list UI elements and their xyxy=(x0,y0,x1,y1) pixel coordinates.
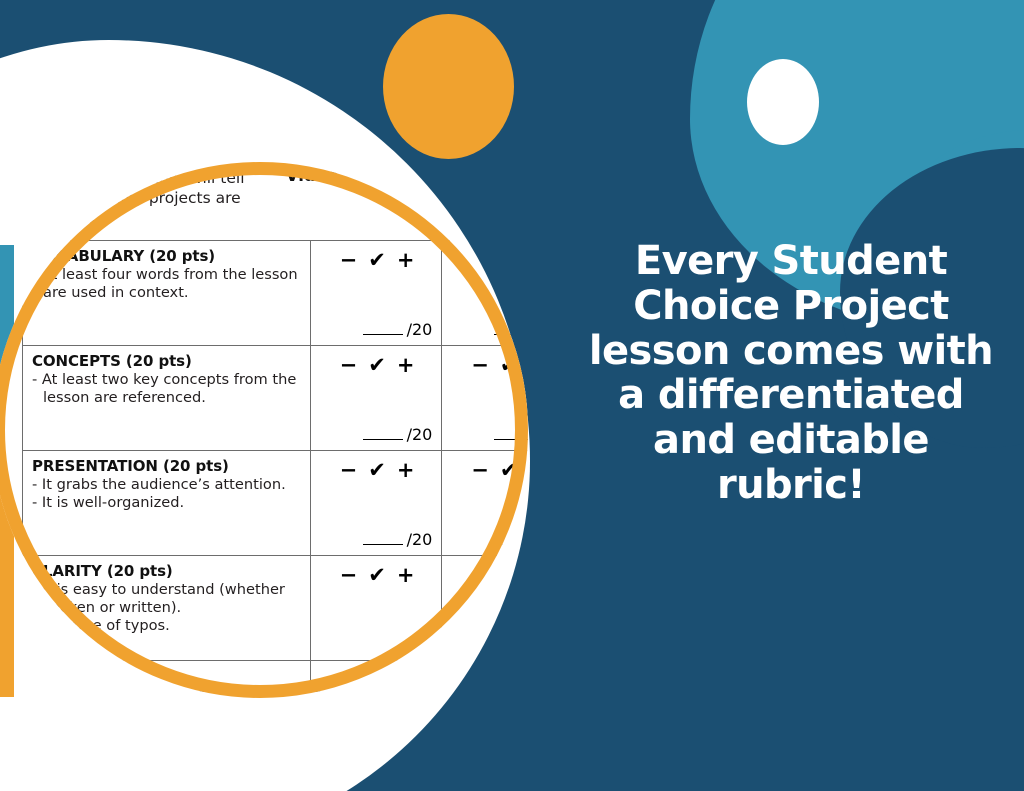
minus-mark[interactable]: − xyxy=(340,565,358,586)
plus-mark[interactable]: + xyxy=(397,565,415,586)
score-cell-video[interactable]: − ✔ + /20 xyxy=(310,346,442,451)
table-row: CLARITY (20 pts) - It is easy to underst… xyxy=(23,556,529,661)
score-entry[interactable]: /20 xyxy=(451,425,528,444)
score-inner: − ✔ + /20 xyxy=(320,352,435,444)
slide-canvas: udent Choice Project Rubric Each project… xyxy=(0,0,1024,791)
score-entry[interactable]: /20 xyxy=(320,320,435,339)
score-cell-second[interactable]: − ✔ + /20 xyxy=(442,451,528,556)
white-circle-shape xyxy=(747,59,819,145)
mark-options[interactable]: − ✔ + xyxy=(451,457,528,481)
score-inner: − ✔ + /20 xyxy=(451,352,528,444)
score-inner: − ✔ + xyxy=(320,562,435,654)
score-entry[interactable]: /20 xyxy=(320,530,435,549)
minus-mark[interactable]: − xyxy=(471,355,489,376)
check-mark[interactable]: ✔ xyxy=(500,460,518,481)
score-inner xyxy=(451,562,528,654)
rubric-table-body: VOCABULARY (20 pts) - At least four word… xyxy=(23,241,529,692)
score-cell-video[interactable]: − ✔ + /20 xyxy=(310,241,442,346)
check-mark[interactable]: ✔ xyxy=(368,565,386,586)
plus-mark[interactable]: + xyxy=(397,460,415,481)
list-item: - At least two key concepts from the les… xyxy=(32,371,303,407)
score-inner: − ✔ + /20 xyxy=(320,247,435,339)
score-cell-second[interactable] xyxy=(442,556,528,661)
score-cell-video[interactable] xyxy=(310,661,442,692)
check-mark[interactable]: ✔ xyxy=(500,250,518,271)
headline-text: Every Student Choice Project lesson come… xyxy=(586,239,996,508)
score-entry[interactable]: /20 xyxy=(451,530,528,549)
mark-options[interactable]: − ✔ + xyxy=(320,352,435,376)
magnifier-lens: udent Choice Project Rubric Each project… xyxy=(0,162,528,698)
table-row: PRESENTATION (20 pts) - It grabs the aud… xyxy=(23,451,529,556)
criterion-cell: VOCABULARY (20 pts) - At least four word… xyxy=(23,241,311,346)
list-item: - It is easy to understand (whether spok… xyxy=(32,581,303,617)
score-blank-line[interactable] xyxy=(494,428,528,440)
mark-options[interactable]: − ✔ + xyxy=(320,247,435,271)
mark-options[interactable] xyxy=(451,562,528,565)
list-item: - It grabs the audience’s attention. xyxy=(32,476,303,494)
intro-text: Each project is worth 100 points. Your t… xyxy=(30,162,258,228)
minus-mark[interactable]: − xyxy=(340,250,358,271)
rubric-document: udent Choice Project Rubric Each project… xyxy=(22,162,528,692)
score-inner: − ✔ + /20 xyxy=(451,247,528,339)
table-row: CY (20 pts) xyxy=(23,661,529,692)
criterion-cell: CY (20 pts) xyxy=(23,661,311,692)
plus-mark[interactable]: + xyxy=(397,250,415,271)
criterion-title: CONCEPTS (20 pts) xyxy=(32,352,303,370)
minus-mark[interactable]: − xyxy=(471,460,489,481)
criterion-cell: PRESENTATION (20 pts) - It grabs the aud… xyxy=(23,451,311,556)
score-blank-line[interactable] xyxy=(494,323,528,335)
list-item: - At least four words from the lesson ar… xyxy=(32,266,303,302)
column-header-video: Video xyxy=(258,162,366,185)
score-entry[interactable]: /20 xyxy=(320,425,435,444)
criterion-cell: CONCEPTS (20 pts) - At least two key con… xyxy=(23,346,311,451)
score-blank-line[interactable] xyxy=(363,428,403,440)
criterion-title: CY (20 pts) xyxy=(32,667,303,685)
plus-mark[interactable]: + xyxy=(397,355,415,376)
score-cell-second[interactable]: − ✔ + /20 xyxy=(442,346,528,451)
score-cell-video[interactable]: − ✔ + /20 xyxy=(310,451,442,556)
score-cell-second[interactable] xyxy=(442,661,528,692)
minus-mark[interactable]: − xyxy=(340,460,358,481)
score-blank-line[interactable] xyxy=(363,323,403,335)
score-suffix: /20 xyxy=(407,320,433,339)
mark-options[interactable]: − ✔ + xyxy=(451,247,528,271)
check-mark[interactable]: ✔ xyxy=(368,460,386,481)
criterion-bullets: - At least four words from the lesson ar… xyxy=(32,266,303,302)
list-item: - It is well-organized. xyxy=(32,494,303,512)
criterion-bullets: - It grabs the audience’s attention. - I… xyxy=(32,476,303,512)
check-mark[interactable]: ✔ xyxy=(368,250,386,271)
score-entry[interactable]: /20 xyxy=(451,320,528,339)
mark-options[interactable]: − ✔ + xyxy=(451,352,528,376)
table-row: VOCABULARY (20 pts) - At least four word… xyxy=(23,241,529,346)
score-cell-second[interactable]: − ✔ + /20 xyxy=(442,241,528,346)
score-suffix: /20 xyxy=(407,425,433,444)
minus-mark[interactable]: − xyxy=(340,355,358,376)
check-mark[interactable]: ✔ xyxy=(368,355,386,376)
score-inner: − ✔ + /20 xyxy=(320,457,435,549)
score-inner: − ✔ + /20 xyxy=(451,457,528,549)
check-mark[interactable]: ✔ xyxy=(500,355,518,376)
rubric-table: VOCABULARY (20 pts) - At least four word… xyxy=(22,240,528,692)
score-suffix: /20 xyxy=(407,530,433,549)
mark-options[interactable]: − ✔ + xyxy=(320,457,435,481)
column-header-second: R xyxy=(366,162,474,185)
criterion-title: CLARITY (20 pts) xyxy=(32,562,303,580)
criterion-title: VOCABULARY (20 pts) xyxy=(32,247,303,265)
criterion-bullets: - At least two key concepts from the les… xyxy=(32,371,303,407)
criterion-cell: CLARITY (20 pts) - It is easy to underst… xyxy=(23,556,311,661)
criterion-bullets: - It is easy to understand (whether spok… xyxy=(32,581,303,634)
score-cell-video[interactable]: − ✔ + xyxy=(310,556,442,661)
criterion-title: PRESENTATION (20 pts) xyxy=(32,457,303,475)
score-blank-line[interactable] xyxy=(494,533,528,545)
document-intro-row: Each project is worth 100 points. Your t… xyxy=(22,162,528,228)
minus-mark[interactable]: − xyxy=(471,250,489,271)
table-row: CONCEPTS (20 pts) - At least two key con… xyxy=(23,346,529,451)
mark-options[interactable]: − ✔ + xyxy=(320,562,435,586)
list-item: - It is free of typos. xyxy=(32,617,303,635)
orange-circle-shape xyxy=(383,14,514,159)
score-blank-line[interactable] xyxy=(363,533,403,545)
